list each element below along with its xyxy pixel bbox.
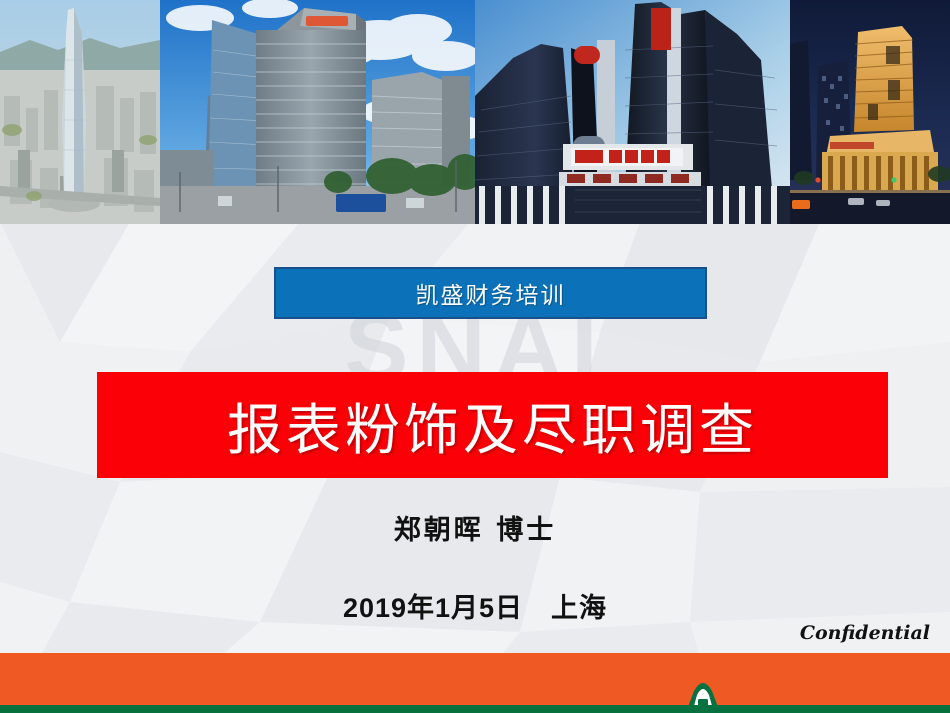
header-photo-strip xyxy=(0,0,950,224)
footer-orange-bar xyxy=(0,653,950,713)
slide-root: SNAI xyxy=(0,0,950,713)
subtitle-banner: 凯盛财务培训 xyxy=(274,267,707,319)
page-title: 报表粉饰及尽职调查 xyxy=(227,385,758,465)
photo-lit-building-night xyxy=(790,0,950,224)
footer-green-bar xyxy=(0,705,950,713)
author-name: 郑朝晖 博士 xyxy=(0,508,950,547)
presentation-date-city: 2019年1月5日 上海 xyxy=(0,586,950,625)
photo-office-towers-day xyxy=(160,0,475,224)
photo-twin-towers-upward xyxy=(475,0,790,224)
photo-skyscraper-aerial xyxy=(0,0,160,224)
main-title-bar: 报表粉饰及尽职调查 xyxy=(97,372,888,478)
confidential-label: Confidential xyxy=(800,622,930,644)
subtitle-banner-label: 凯盛财务培训 xyxy=(416,276,566,310)
